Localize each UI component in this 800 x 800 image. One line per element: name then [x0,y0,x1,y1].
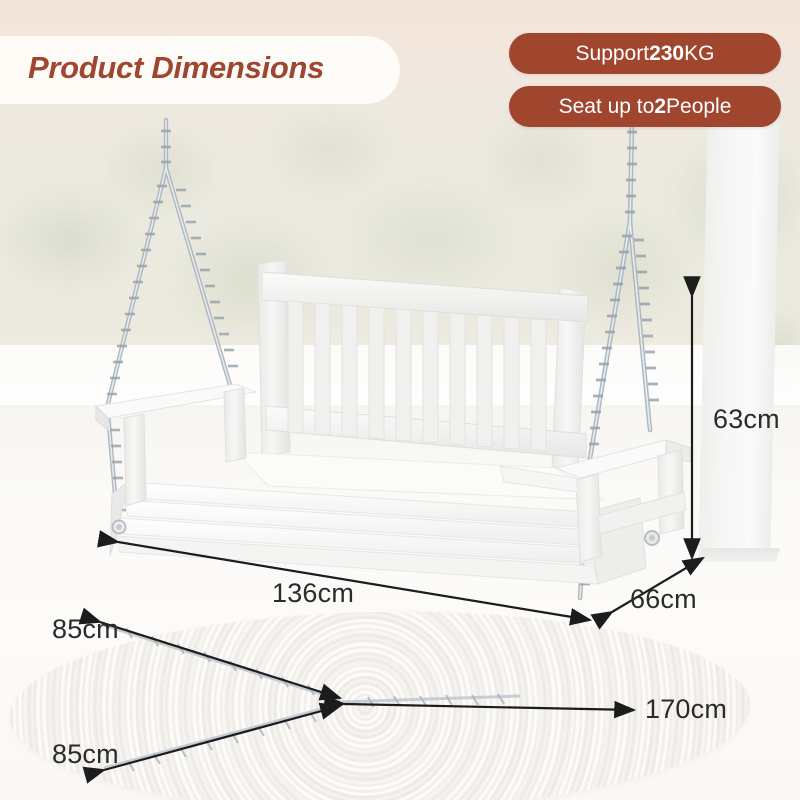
badge-support-value: 230 [649,42,684,66]
badge-seat-value: 2 [654,95,666,119]
badge-seat-capacity: Seat up to 2 People [509,86,781,127]
badge-support-unit: KG [684,42,714,66]
page-title: Product Dimensions [28,50,324,86]
product-dimensions-infographic: Product Dimensions Support 230 KG Seat u… [0,0,800,800]
bench-backrest [258,260,588,470]
dimension-label-height: 63cm [713,404,780,435]
badge-seat-label: Seat up to [559,95,655,119]
dimension-label-chain-upper: 85cm [52,614,119,645]
dimension-label-width: 136cm [272,578,354,609]
dimension-label-chain-lower: 85cm [52,739,119,770]
floor-chain-lines [100,624,520,768]
dimension-label-depth: 66cm [630,584,697,615]
badge-support-label: Support [576,42,650,66]
badge-support-capacity: Support 230 KG [509,33,781,74]
dimension-label-chain-span: 170cm [645,694,727,725]
badge-seat-unit: People [666,95,731,119]
